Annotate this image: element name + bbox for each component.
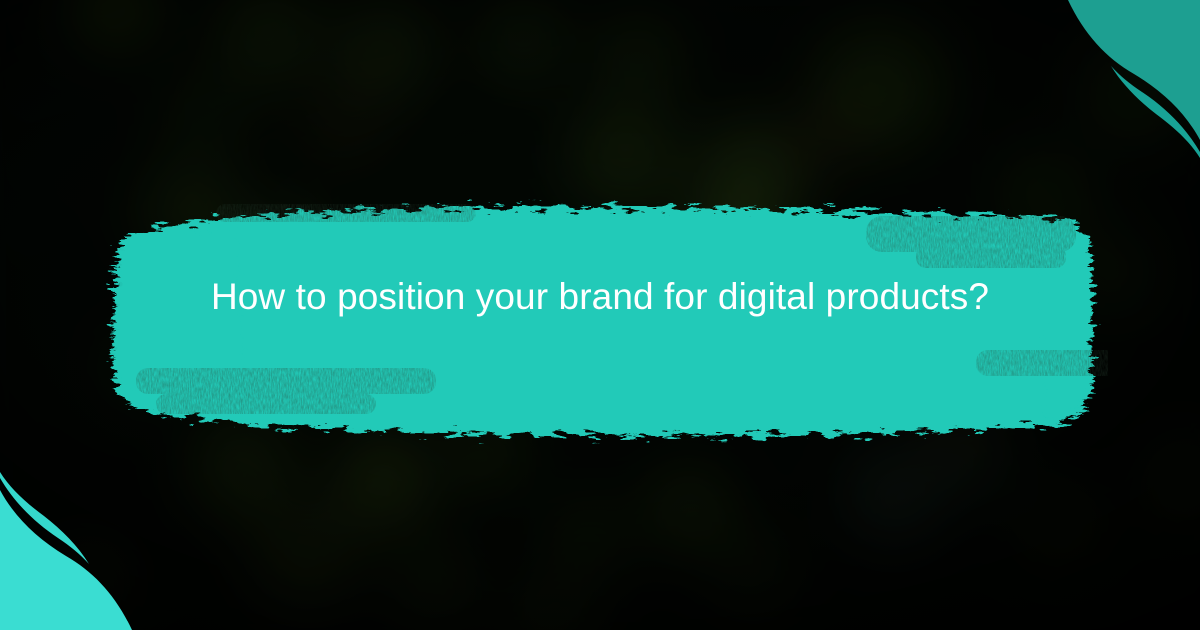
blog-cover-card: How to position your brand for digital p… [0, 0, 1200, 630]
page-title: How to position your brand for digital p… [0, 270, 1200, 325]
